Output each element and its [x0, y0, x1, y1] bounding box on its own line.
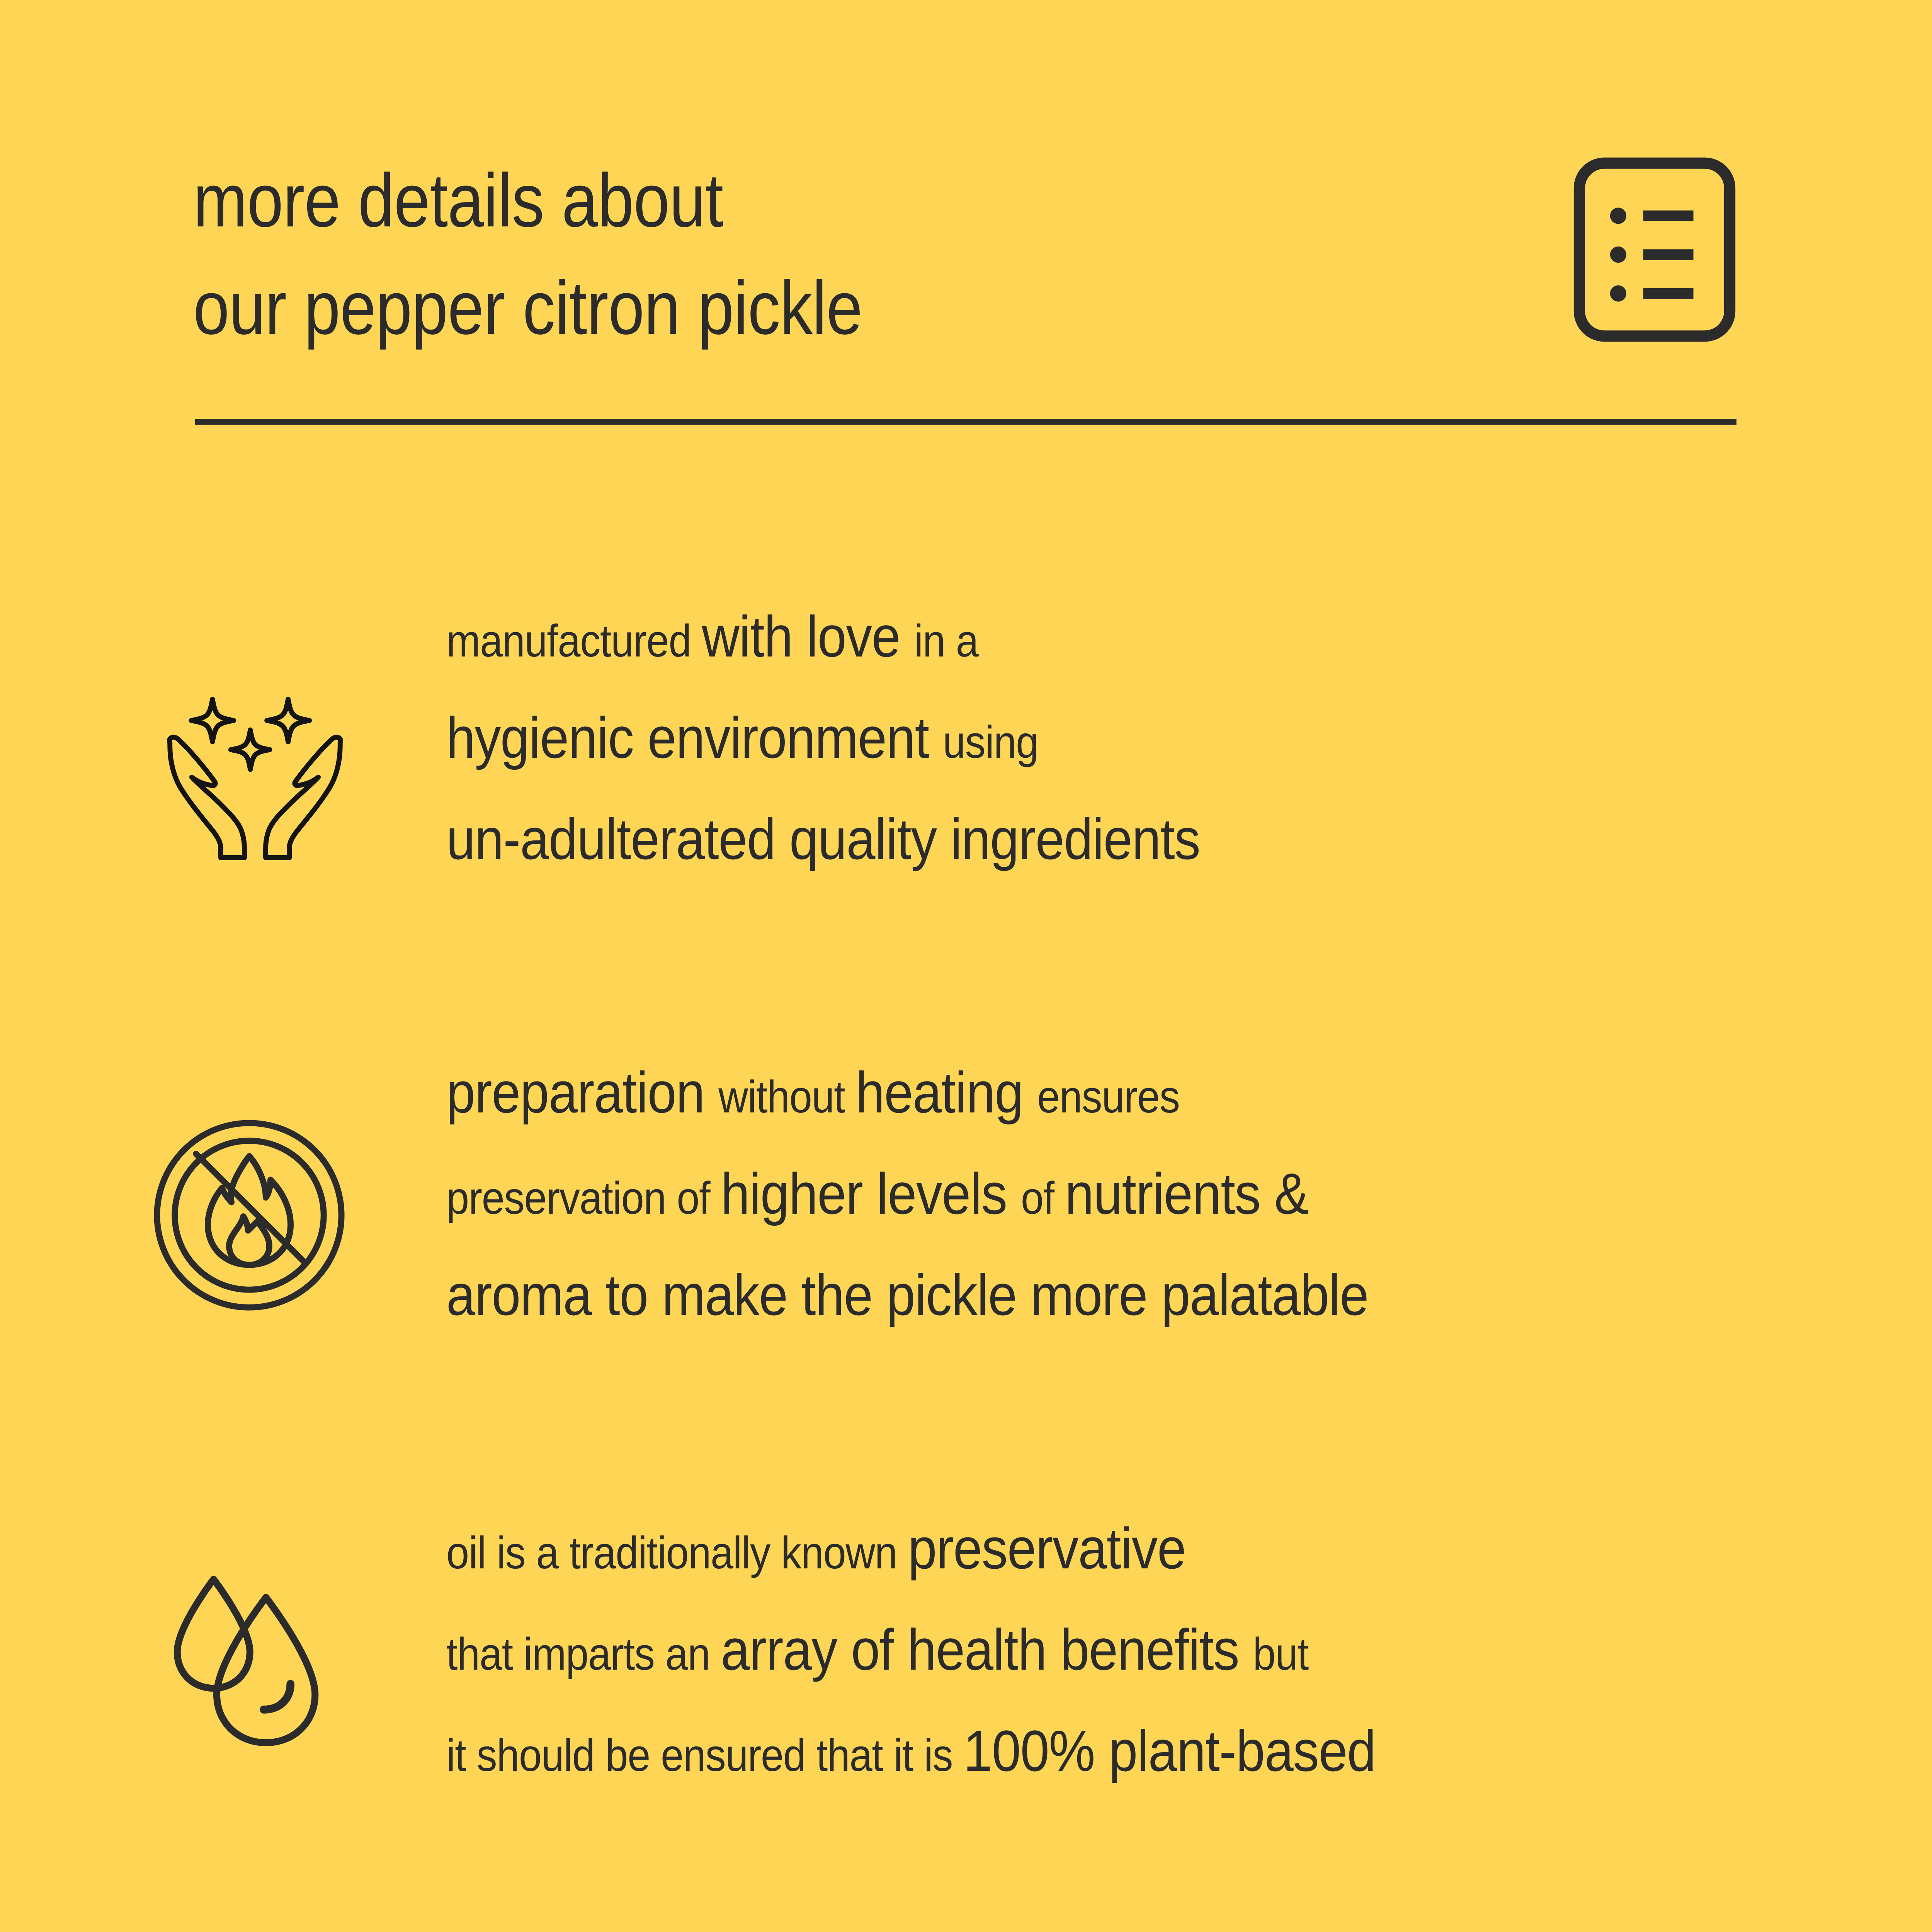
page-title-line-2: our pepper citron pickle: [193, 265, 862, 350]
no-fire-icon: [149, 1115, 350, 1316]
page-title-line-1: more details about: [193, 158, 723, 243]
header-divider-rule: [195, 419, 1736, 425]
hands-with-sparkles-icon: [155, 668, 355, 869]
feature-list: manufactured with love in a hygienic env…: [0, 553, 1932, 1920]
feature-line: hygienic environment using: [446, 696, 1629, 798]
page-title: more details about our pepper citron pic…: [193, 147, 862, 362]
feature-text-oil: oil is a traditionally known preservativ…: [446, 1507, 1760, 1811]
feature-line: aroma to make the pickle more palatable: [446, 1253, 1629, 1355]
feature-line: preservation of higher levels of nutrien…: [446, 1152, 1629, 1253]
feature-row-no-heat: preparation without heating ensures pres…: [0, 1009, 1932, 1464]
oil-droplets-icon: [162, 1571, 344, 1752]
poster-header: more details about our pepper citron pic…: [193, 147, 1739, 363]
feature-line: un-adulterated quality ingredients: [446, 798, 1629, 899]
feature-row-manufacturing: manufactured with love in a hygienic env…: [0, 553, 1932, 1009]
feature-text-no-heat: preparation without heating ensures pres…: [446, 1051, 1760, 1355]
feature-row-oil: oil is a traditionally known preservativ…: [0, 1464, 1932, 1920]
feature-line: that imparts an array of health benefits…: [446, 1608, 1629, 1709]
feature-text-manufacturing: manufactured with love in a hygienic env…: [446, 595, 1760, 899]
feature-line: manufactured with love in a: [446, 595, 1629, 696]
list-document-icon: [1573, 157, 1736, 342]
feature-line: oil is a traditionally known preservativ…: [446, 1507, 1629, 1608]
feature-line: it should be ensured that it is 100% pla…: [446, 1709, 1629, 1811]
feature-line: preparation without heating ensures: [446, 1051, 1629, 1152]
poster-canvas: more details about our pepper citron pic…: [0, 0, 1932, 1932]
